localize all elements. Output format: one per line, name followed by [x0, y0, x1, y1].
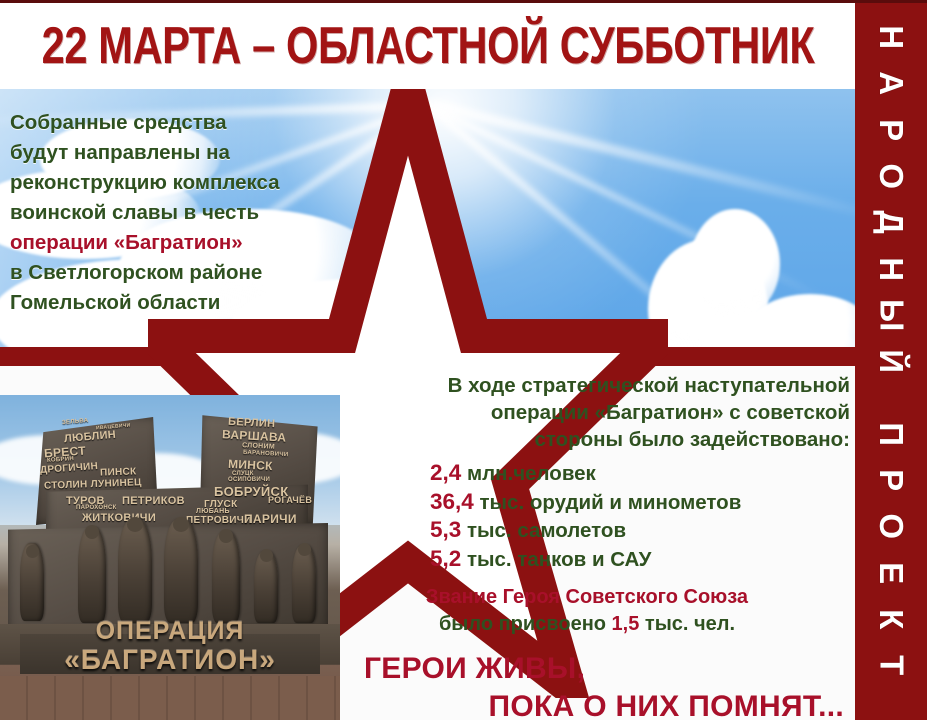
top-hairline [0, 0, 927, 3]
side-band-letter: Н [875, 25, 907, 49]
monument-caption-line1: ОПЕРАЦИЯ [0, 617, 340, 646]
monument-city: ЖИТКОВИЧИ [82, 512, 156, 524]
monument-city: ОСИПОВИЧИ [228, 477, 270, 483]
side-band-letter: П [875, 422, 907, 446]
monument-city: ПЕТРОВИЧИ [186, 515, 252, 526]
list-item: 2,4 млн.человек [330, 459, 850, 488]
side-band-letter: Р [875, 469, 907, 491]
stat-unit: тыс. орудий и минометов [480, 491, 742, 514]
statistics-list: 2,4 млн.человек 36,4 тыс. орудий и мином… [330, 459, 850, 573]
poster-root: 22 МАРТА – ОБЛАСТНОЙ СУББОТНИК Н А Р О Д… [0, 0, 927, 720]
stat-unit: тыс. самолетов [467, 519, 626, 542]
side-band-letter: О [875, 514, 907, 540]
monument-figure-head [298, 543, 311, 556]
left-line-6: в Светлогорском районе [10, 258, 350, 288]
horizontal-red-band [0, 347, 855, 366]
monument-figure [212, 531, 240, 623]
monument-figure [292, 545, 316, 623]
left-description-block: Собранные средства будут направлены на р… [10, 108, 350, 318]
monument-city: ЛЮБАНЬ [196, 508, 230, 515]
side-band-letter: Д [875, 211, 907, 235]
monument-city: ПАРОХОНСК [76, 505, 117, 511]
stat-value: 2,4 [430, 460, 461, 485]
left-line-7: Гомельской области [10, 288, 350, 318]
side-band-letter: Е [875, 562, 907, 584]
hero-title-note: Звание Героя Советского Союза было присв… [330, 584, 850, 638]
hero-note-suffix: тыс. чел. [639, 613, 735, 635]
slogan-block: ГЕРОИ ЖИВЫ, ПОКА О НИХ ПОМНЯТ... [330, 650, 850, 720]
monument-figure-head [173, 517, 189, 532]
side-band-letter: Р [875, 119, 907, 141]
stat-unit: тыс. танков и САУ [467, 548, 651, 571]
title-bar: 22 МАРТА – ОБЛАСТНОЙ СУББОТНИК [0, 3, 855, 89]
side-band-narodny-proekt: Н А Р О Д Н Ы Й П Р О Е К Т [855, 0, 927, 720]
hero-note-prefix: было присвоено [439, 613, 612, 635]
side-band-letter: К [875, 609, 907, 629]
side-band-letter: О [875, 163, 907, 189]
stat-value: 5,2 [430, 546, 461, 571]
list-item: 36,4 тыс. орудий и минометов [330, 488, 850, 517]
monument-figure-head [219, 529, 233, 543]
left-line-3: реконструкцию комплекса [10, 168, 350, 198]
page-title: 22 МАРТА – ОБЛАСТНОЙ СУББОТНИК [41, 16, 814, 76]
monument-figure [78, 527, 106, 623]
hero-note-line-1: Звание Героя Советского Союза [330, 584, 844, 611]
list-item: 5,3 тыс. самолетов [330, 516, 850, 545]
main-statistics-block: В ходе стратегической наступательной опе… [330, 372, 850, 720]
left-line-4: воинской славы в честь [10, 198, 350, 228]
list-item: 5,2 тыс. танков и САУ [330, 545, 850, 574]
monument-figure [164, 519, 198, 623]
left-line-5-highlight: операции «Багратион» [10, 228, 350, 258]
monument-figure [118, 519, 152, 623]
slogan-line-1: ГЕРОИ ЖИВЫ, [330, 650, 850, 688]
intro-paragraph: В ходе стратегической наступательной опе… [330, 372, 850, 453]
monument-figure-head [85, 525, 99, 539]
side-band-letter: А [875, 72, 907, 96]
side-band-letter: Н [875, 257, 907, 281]
stat-value: 5,3 [430, 517, 461, 542]
monument-figure-head [260, 549, 273, 562]
intro-line-2: операции «Багратион» с советской [330, 399, 850, 426]
monument-city: РОГАЧЁВ [268, 495, 312, 505]
stat-value: 36,4 [430, 489, 474, 514]
monument-photo: ЗЕЛЬВА ИВАЦЕВИЧИ ЛЮБЛИН БРЕСТ КОБРИН ДРО… [0, 395, 340, 720]
side-band-letter: Ы [875, 299, 907, 331]
hero-note-line-2: было присвоено 1,5 тыс. чел. [330, 611, 844, 638]
intro-line-1: В ходе стратегической наступательной [330, 372, 850, 399]
left-line-2: будут направлены на [10, 138, 350, 168]
monument-figure-head [26, 545, 39, 558]
monument-caption-line2: «БАГРАТИОН» [0, 644, 340, 676]
monument-ground [0, 676, 340, 720]
intro-line-3: стороны было задействовано: [330, 426, 850, 453]
stat-unit: млн.человек [467, 462, 596, 485]
hero-note-value: 1,5 [612, 613, 640, 635]
slogan-line-2: ПОКА О НИХ ПОМНЯТ... [330, 688, 850, 720]
side-band-letter: Т [875, 655, 907, 675]
monument-city: ПЕТРИКОВ [122, 495, 185, 507]
left-line-1: Собранные средства [10, 108, 350, 138]
monument-figure-head [127, 517, 143, 532]
side-band-letter: Й [875, 350, 907, 374]
